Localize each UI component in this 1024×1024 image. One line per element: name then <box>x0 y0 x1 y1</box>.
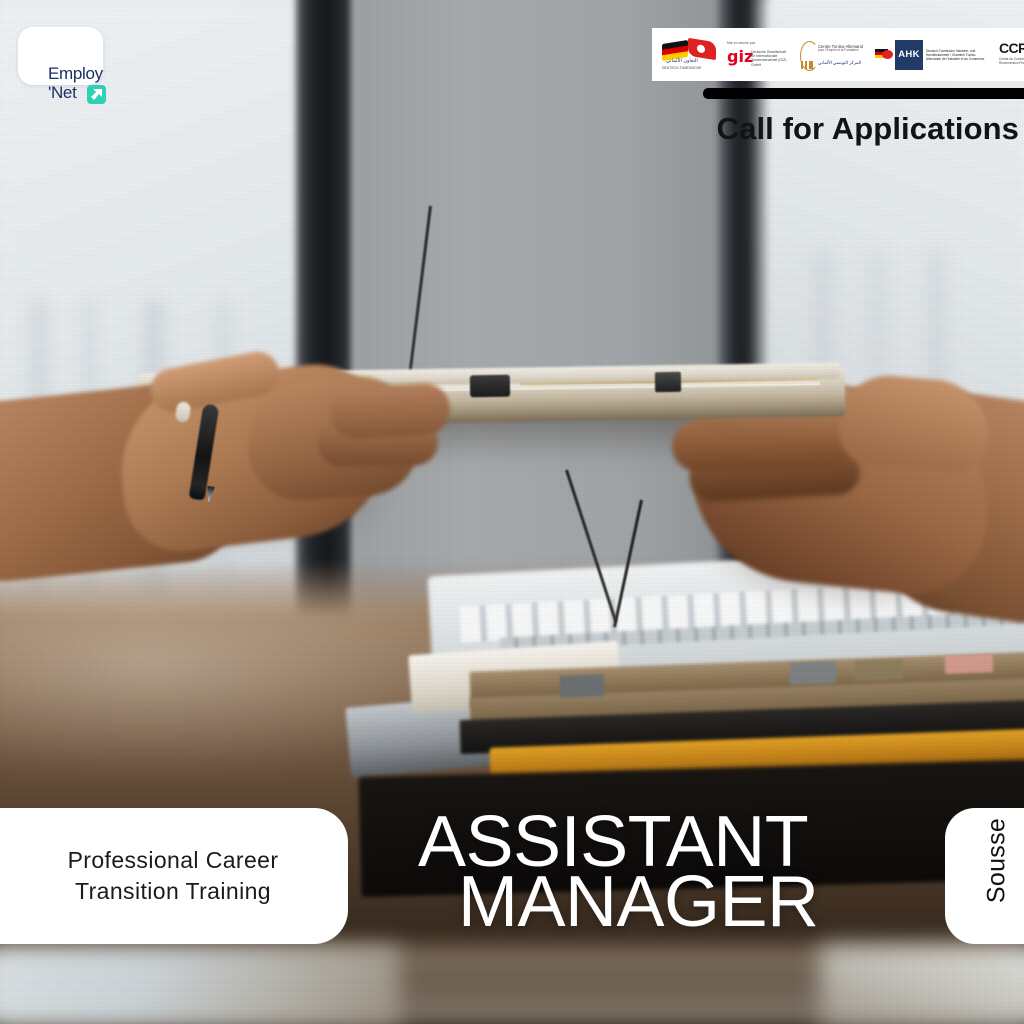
program-line-2: Transition Training <box>68 876 279 907</box>
centre-description: pour l'Emploi et la Formation <box>818 49 862 53</box>
logo-text-line2: 'Net <box>48 84 77 102</box>
job-title: ASSISTANT MANAGER <box>418 812 819 932</box>
ahk-logo-icon: AHK <box>873 40 923 70</box>
ahk-tunisian-flag-icon <box>882 50 893 59</box>
program-pill-text: Professional Career Transition Training <box>28 845 279 907</box>
bookmark-tab-1 <box>560 674 605 698</box>
partner-subtitle: DEUTSCH-TUNESISCHE <box>662 66 701 70</box>
partner-arabic-label: التعاون الألماني <box>666 58 698 64</box>
employnet-logo[interactable]: Employ 'Net <box>18 27 103 85</box>
german-tunisian-flags-icon: التعاون الألماني DEUTSCH-TUNESISCHE <box>660 38 718 72</box>
partner-ahk: AHK Deutsch-Tunesische Industrie- und Ha… <box>873 40 990 70</box>
program-pill: Professional Career Transition Training <box>0 808 348 944</box>
logo-text-line1: Employ <box>48 65 103 83</box>
bottom-strip-left <box>0 946 400 1024</box>
bottom-strip-right <box>820 946 1024 1024</box>
giz-wordmark: giz <box>727 49 753 65</box>
giz-top-note: Mis en œuvre par <box>727 41 755 45</box>
notebook-clip-center <box>470 375 510 398</box>
centre-bars-icon <box>801 61 813 69</box>
partner-giz: Mis en œuvre par giz Deutsche Gesellscha… <box>727 38 789 72</box>
city-pill: Sousse <box>945 808 1024 944</box>
ahk-flag-block <box>873 40 895 70</box>
ccrp-wordmark: CCRP <box>999 41 1024 55</box>
page-title: Call for Applications <box>703 112 1019 146</box>
partner-german-tunisian-cooperation: التعاون الألماني DEUTSCH-TUNESISCHE <box>660 38 718 72</box>
program-line-1: Professional Career <box>68 845 279 876</box>
header-rule <box>703 88 1024 99</box>
tunisian-flag-icon <box>688 37 716 59</box>
bookmark-tab-4 <box>945 654 994 674</box>
partner-ccrp: CCRP Centre de Conversion et de Reconver… <box>999 39 1024 71</box>
partner-logo-strip: التعاون الألماني DEUTSCH-TUNESISCHE Mis … <box>652 28 1024 81</box>
giz-description: Deutsche Gesellschaft für Internationale… <box>751 50 789 68</box>
job-title-line-2: MANAGER <box>458 872 819 932</box>
bookmark-tab-2 <box>790 661 837 685</box>
left-finger-1 <box>329 382 452 440</box>
arrow-mark-icon <box>87 85 106 104</box>
centre-arabic: المركز التونسي الألماني <box>818 60 861 66</box>
ahk-description: Deutsch-Tunesische Industrie- und Handel… <box>926 49 990 61</box>
ahk-wordmark: AHK <box>895 40 923 70</box>
notebook-clip-right <box>655 372 681 392</box>
poster: Employ 'Net التعاون الألماني DEUTSCH-TUN… <box>0 0 1024 1024</box>
city-label: Sousse <box>983 801 1012 921</box>
ccrp-description: Centre de Conversion et de Reconversion … <box>999 57 1024 65</box>
partner-centre-franco-allemand: Centre Tuniso-Allemand pour l'Emploi et … <box>798 37 864 73</box>
bookmark-tab-3 <box>855 659 904 681</box>
